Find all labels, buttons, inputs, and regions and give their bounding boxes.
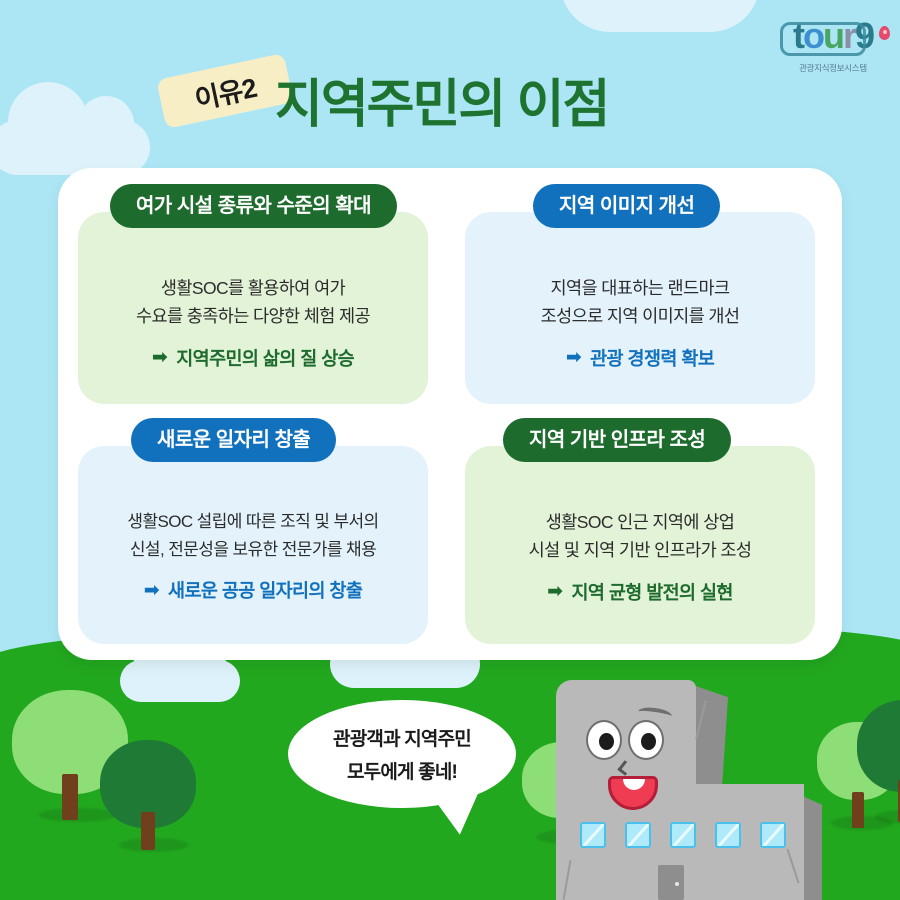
reason-badge: 이유2	[156, 53, 294, 129]
cloud-icon	[560, 0, 760, 32]
speech-bubble: 관광객과 지역주민 모두에게 좋네!	[288, 700, 516, 808]
page-title: 지역주민의 이점	[275, 62, 608, 137]
building-door	[658, 865, 684, 900]
eye-left-icon	[586, 720, 622, 760]
card-result: ➡ 지역 균형 발전의 실현	[477, 579, 803, 605]
arrow-right-icon: ➡	[547, 582, 562, 601]
infographic-page: 이유2 지역주민의 이점 tour9 관광지식정보시스템 생활SOC를 활용하여…	[0, 0, 900, 900]
card-title: 지역 기반 인프라 조성	[503, 418, 731, 462]
card-desc-line-1: 생활SOC를 활용하여 여가	[90, 274, 416, 302]
building-window	[760, 822, 786, 848]
building-window	[715, 822, 741, 848]
eye-right-icon	[628, 720, 664, 760]
card-result-label: 관광 경쟁력 확보	[590, 345, 714, 371]
card-result: ➡ 지역주민의 삶의 질 상승	[90, 345, 416, 371]
card-desc-line-1: 지역을 대표하는 랜드마크	[477, 274, 803, 302]
tree-icon	[10, 690, 130, 820]
card-title: 지역 이미지 개선	[533, 184, 720, 228]
cloud-icon	[0, 120, 150, 175]
card-body: 생활SOC 인근 지역에 상업 시설 및 지역 기반 인프라가 조성 ➡ 지역 …	[465, 446, 815, 644]
card-desc-line-2: 수요를 충족하는 다양한 체험 제공	[90, 302, 416, 330]
card-body: 지역을 대표하는 랜드마크 조성으로 지역 이미지를 개선 ➡ 관광 경쟁력 확…	[465, 212, 815, 404]
tour9-logo[interactable]: tour9 관광지식정보시스템	[778, 18, 888, 74]
card-body: 생활SOC 설립에 따른 조직 및 부서의 신설, 전문성을 보유한 전문가를 …	[78, 446, 428, 644]
card-result: ➡ 새로운 공공 일자리의 창출	[90, 577, 416, 603]
card-title: 새로운 일자리 창출	[131, 418, 336, 462]
arrow-right-icon: ➡	[152, 348, 167, 367]
speech-line-1: 관광객과 지역주민	[333, 724, 471, 751]
card-desc-line-2: 신설, 전문성을 보유한 전문가를 채용	[90, 536, 416, 564]
arrow-right-icon: ➡	[566, 348, 581, 367]
card-title: 여가 시설 종류와 수준의 확대	[110, 184, 397, 228]
cards-panel: 생활SOC를 활용하여 여가 수요를 충족하는 다양한 체험 제공 ➡ 지역주민…	[58, 168, 842, 660]
card-desc-line-2: 조성으로 지역 이미지를 개선	[477, 302, 803, 330]
building-window	[670, 822, 696, 848]
speech-line-2: 모두에게 좋네!	[347, 757, 457, 784]
card-result: ➡ 관광 경쟁력 확보	[477, 345, 803, 371]
card-result-label: 지역주민의 삶의 질 상승	[176, 345, 354, 371]
card-desc-line-1: 생활SOC 설립에 따른 조직 및 부서의	[90, 508, 416, 536]
logo-frame-icon	[780, 22, 866, 56]
logo-wordmark: tour9	[778, 18, 888, 60]
card-desc-line-2: 시설 및 지역 기반 인프라가 조성	[477, 536, 803, 564]
card-body: 생활SOC를 활용하여 여가 수요를 충족하는 다양한 체험 제공 ➡ 지역주민…	[78, 212, 428, 404]
building-mascot	[540, 672, 830, 900]
speech-bubble-tail	[437, 794, 486, 838]
tree-icon	[98, 740, 198, 850]
building-window	[625, 822, 651, 848]
card-result-label: 지역 균형 발전의 실현	[571, 579, 732, 605]
card-result-label: 새로운 공공 일자리의 창출	[168, 577, 362, 603]
card-desc-line-1: 생활SOC 인근 지역에 상업	[477, 508, 803, 536]
building-window	[580, 822, 606, 848]
cloud-icon	[120, 660, 240, 702]
arrow-right-icon: ➡	[144, 581, 159, 600]
map-pin-icon	[879, 26, 890, 40]
logo-subtitle: 관광지식정보시스템	[778, 62, 888, 74]
tree-icon	[855, 700, 900, 822]
